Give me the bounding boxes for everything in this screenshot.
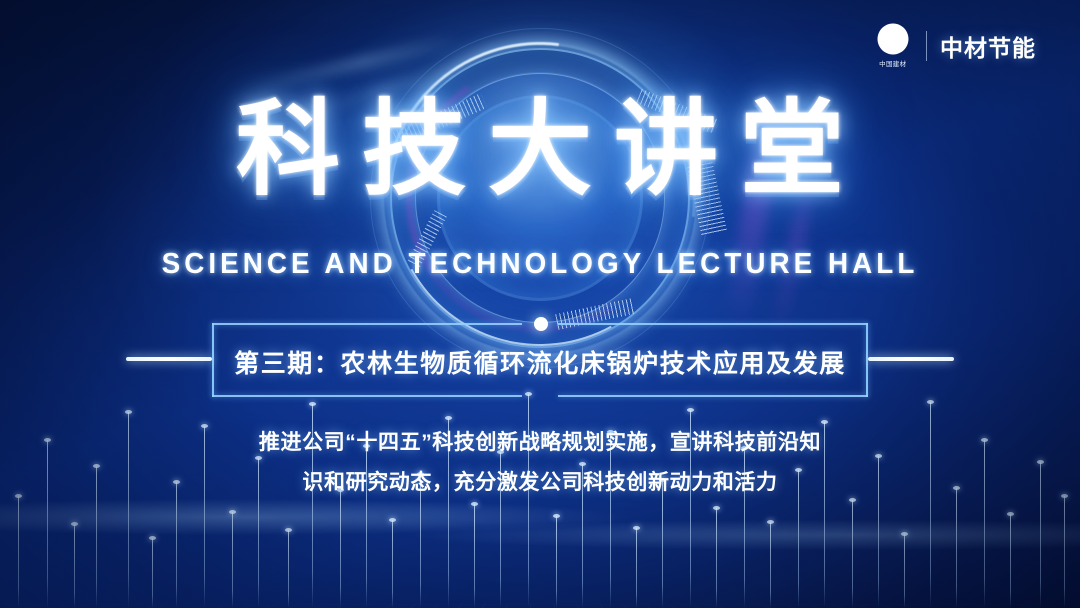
frame-center-dot bbox=[534, 317, 548, 331]
mesh-bar bbox=[474, 504, 475, 608]
mesh-bar bbox=[930, 402, 931, 608]
mesh-bar bbox=[1040, 462, 1041, 608]
mesh-bar bbox=[340, 490, 341, 608]
cnbm-circle-icon bbox=[875, 22, 911, 56]
mesh-perspective-grid bbox=[0, 601, 1080, 608]
frame-rail-top-right bbox=[558, 323, 868, 325]
topic-title: 第三期：农林生物质循环流化床锅炉技术应用及发展 bbox=[0, 344, 1080, 380]
logo-mark: 中国建材 bbox=[873, 22, 913, 69]
mesh-bar bbox=[176, 482, 177, 608]
page-title: 科技大讲堂 bbox=[0, 98, 1080, 202]
mesh-bar bbox=[47, 440, 48, 608]
description-block: 推进公司“十四五”科技创新战略规划实施，宣讲科技前沿知 识和研究动态，充分激发公… bbox=[215, 423, 865, 503]
frame-rail-bottom-left bbox=[212, 395, 522, 397]
mesh-bar bbox=[1010, 514, 1011, 608]
description-line-1: 推进公司“十四五”科技创新战略规划实施，宣讲科技前沿知 bbox=[215, 423, 865, 463]
streak-cyan-left bbox=[238, 34, 464, 95]
page-subtitle-en: SCIENCE AND TECHNOLOGY LECTURE HALL bbox=[22, 248, 1059, 281]
mesh-bar bbox=[392, 520, 393, 608]
mesh-bar bbox=[956, 488, 957, 608]
mesh-bar bbox=[716, 508, 717, 608]
frame-rail-top-left bbox=[212, 323, 522, 325]
mesh-bar bbox=[128, 412, 129, 608]
brand-logo: 中国建材 中材节能 bbox=[873, 22, 1036, 69]
frame-rail-bottom-right bbox=[558, 395, 868, 397]
mesh-bar bbox=[770, 522, 771, 608]
mesh-bar bbox=[204, 426, 205, 608]
mesh-bar bbox=[152, 538, 153, 608]
mesh-bar bbox=[18, 496, 19, 608]
mesh-bar bbox=[1064, 496, 1065, 608]
mesh-bar bbox=[878, 456, 879, 608]
company-name: 中材节能 bbox=[940, 29, 1036, 63]
logo-sublabel: 中国建材 bbox=[879, 59, 906, 68]
mesh-bar bbox=[96, 466, 97, 608]
mesh-bar bbox=[232, 512, 233, 608]
description-line-2: 识和研究动态，充分激发公司科技创新动力和活力 bbox=[215, 463, 865, 503]
mesh-bar bbox=[288, 530, 289, 608]
logo-divider bbox=[926, 31, 927, 61]
mesh-bar bbox=[636, 528, 637, 608]
mesh-bar bbox=[852, 500, 853, 608]
mesh-bar bbox=[904, 534, 905, 608]
mesh-bar bbox=[74, 524, 75, 608]
mesh-bar bbox=[556, 516, 557, 608]
poster-canvas: 中国建材 中材节能 科技大讲堂 SCIENCE AND TECHNOLOGY L… bbox=[0, 0, 1080, 608]
mesh-bar bbox=[984, 440, 985, 608]
